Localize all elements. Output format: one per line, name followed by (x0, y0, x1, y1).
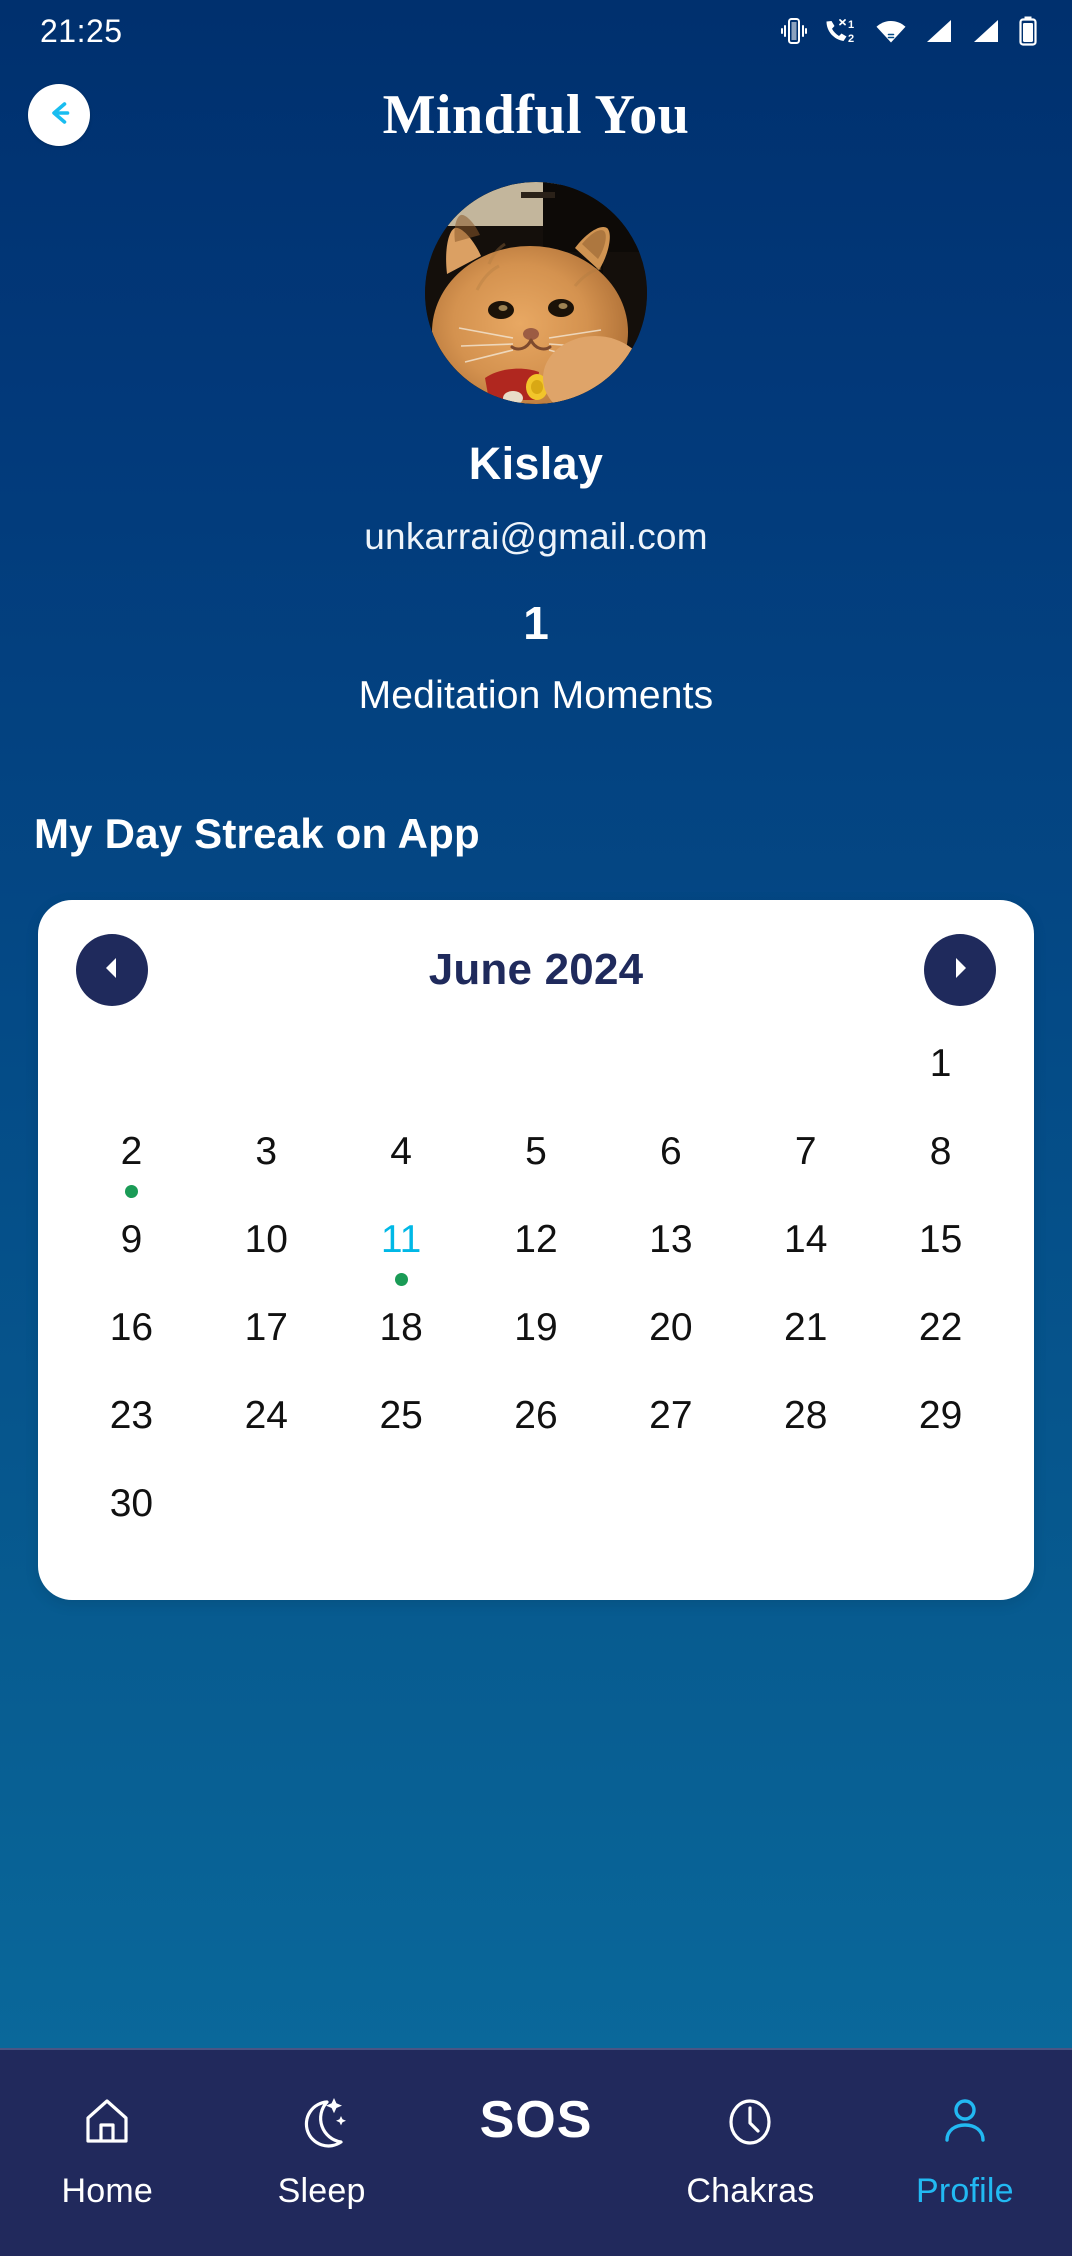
nav-label-chakras: Chakras (686, 2172, 814, 2211)
calendar-day-27[interactable]: 27 (603, 1388, 738, 1476)
calendar-day-21[interactable]: 21 (738, 1300, 873, 1388)
nav-label-home: Home (61, 2172, 153, 2211)
streak-dot (395, 1273, 408, 1286)
calendar-day-number: 30 (110, 1484, 153, 1525)
calendar-day-number: 20 (649, 1308, 692, 1349)
calendar-day-number: 5 (525, 1132, 547, 1173)
calendar-day-28[interactable]: 28 (738, 1388, 873, 1476)
calendar-day-number: 24 (245, 1396, 288, 1437)
calendar-day-18[interactable]: 18 (334, 1300, 469, 1388)
calendar-month-label: June 2024 (148, 945, 924, 995)
calendar-day-17[interactable]: 17 (199, 1300, 334, 1388)
missed-call-dual-sim-icon: 1 2 (824, 16, 858, 46)
calendar-next-button[interactable] (924, 934, 996, 1006)
chevron-right-icon (946, 954, 974, 987)
arrow-left-icon (39, 93, 79, 138)
calendar-day-24[interactable]: 24 (199, 1388, 334, 1476)
svg-text:1: 1 (848, 19, 854, 31)
calendar-day-22[interactable]: 22 (873, 1300, 1008, 1388)
calendar-day-number: 25 (379, 1396, 422, 1437)
calendar-day-number: 6 (660, 1132, 682, 1173)
calendar-day-number: 7 (795, 1132, 817, 1173)
calendar-day-number: 21 (784, 1308, 827, 1349)
sos-icon: SOS (480, 2090, 593, 2150)
user-name: Kislay (0, 438, 1072, 490)
calendar-day-20[interactable]: 20 (603, 1300, 738, 1388)
calendar-day-26[interactable]: 26 (469, 1388, 604, 1476)
calendar-day-number: 29 (919, 1396, 962, 1437)
signal-sim1-icon (924, 18, 954, 44)
calendar-day-16[interactable]: 16 (64, 1300, 199, 1388)
page-title: Mindful You (0, 83, 1072, 147)
nav-label-profile: Profile (916, 2172, 1014, 2211)
moon-stars-icon (294, 2090, 350, 2154)
battery-icon (1018, 16, 1038, 46)
calendar-day-number: 18 (379, 1308, 422, 1349)
calendar-day-number: 8 (930, 1132, 952, 1173)
calendar-day-number: 22 (919, 1308, 962, 1349)
clock-icon (722, 2090, 778, 2154)
streak-dot (125, 1185, 138, 1198)
calendar-day-7[interactable]: 7 (738, 1124, 873, 1212)
nav-item-sos[interactable]: SOS (429, 2090, 643, 2150)
calendar-day-19[interactable]: 19 (469, 1300, 604, 1388)
signal-sim2-icon (971, 18, 1001, 44)
streak-heading: My Day Streak on App (34, 810, 1072, 858)
calendar-day-14[interactable]: 14 (738, 1212, 873, 1300)
nav-label-sleep: Sleep (278, 2172, 366, 2211)
calendar-grid: 1234567891011121314151617181920212223242… (64, 1036, 1008, 1564)
wifi-icon (875, 18, 907, 44)
meditation-label: Meditation Moments (0, 674, 1072, 718)
calendar-day-6[interactable]: 6 (603, 1124, 738, 1212)
calendar-day-number: 13 (649, 1220, 692, 1261)
status-icons: 1 2 (781, 16, 1038, 46)
status-time: 21:25 (40, 13, 123, 50)
calendar-day-number: 10 (245, 1220, 288, 1261)
calendar-day-number: 12 (514, 1220, 557, 1261)
calendar-day-10[interactable]: 10 (199, 1212, 334, 1300)
calendar-day-11[interactable]: 11 (334, 1212, 469, 1300)
calendar-day-number: 11 (381, 1220, 422, 1261)
calendar-header: June 2024 (64, 934, 1008, 1006)
bottom-navigation: Home Sleep SOS Chakras Profile (0, 2048, 1072, 2256)
calendar-day-number: 9 (121, 1220, 143, 1261)
nav-item-home[interactable]: Home (0, 2090, 214, 2211)
calendar-day-number: 17 (245, 1308, 288, 1349)
svg-text:2: 2 (848, 33, 854, 45)
app-header: Mindful You (0, 62, 1072, 168)
avatar (425, 182, 647, 404)
meditation-count: 1 (0, 596, 1072, 650)
calendar-day-number: 26 (514, 1396, 557, 1437)
chevron-left-icon (98, 954, 126, 987)
home-icon (79, 2090, 135, 2154)
calendar-day-number: 3 (255, 1132, 277, 1173)
calendar-day-1[interactable]: 1 (873, 1036, 1008, 1124)
calendar-day-5[interactable]: 5 (469, 1124, 604, 1212)
nav-item-chakras[interactable]: Chakras (643, 2090, 857, 2211)
calendar-day-13[interactable]: 13 (603, 1212, 738, 1300)
calendar-day-15[interactable]: 15 (873, 1212, 1008, 1300)
calendar-day-30[interactable]: 30 (64, 1476, 199, 1564)
calendar-card: June 2024 123456789101112131415161718192… (38, 900, 1034, 1600)
calendar-day-number: 4 (390, 1132, 412, 1173)
calendar-day-2[interactable]: 2 (64, 1124, 199, 1212)
vibrate-icon (781, 16, 807, 46)
calendar-day-number: 2 (121, 1132, 143, 1173)
calendar-day-number: 1 (930, 1044, 952, 1085)
calendar-day-25[interactable]: 25 (334, 1388, 469, 1476)
calendar-day-number: 19 (514, 1308, 557, 1349)
person-icon (937, 2090, 993, 2154)
calendar-day-23[interactable]: 23 (64, 1388, 199, 1476)
profile-section: Kislay unkarrai@gmail.com 1 Meditation M… (0, 182, 1072, 718)
calendar-prev-button[interactable] (76, 934, 148, 1006)
calendar-day-number: 28 (784, 1396, 827, 1437)
calendar-day-number: 15 (919, 1220, 962, 1261)
nav-item-sleep[interactable]: Sleep (214, 2090, 428, 2211)
user-email: unkarrai@gmail.com (0, 516, 1072, 558)
status-bar: 21:25 1 2 (0, 0, 1072, 62)
calendar-day-number: 16 (110, 1308, 153, 1349)
calendar-day-8[interactable]: 8 (873, 1124, 1008, 1212)
calendar-day-9[interactable]: 9 (64, 1212, 199, 1300)
calendar-day-12[interactable]: 12 (469, 1212, 604, 1300)
calendar-day-number: 14 (784, 1220, 827, 1261)
calendar-day-29[interactable]: 29 (873, 1388, 1008, 1476)
nav-item-profile[interactable]: Profile (858, 2090, 1072, 2211)
calendar-day-4[interactable]: 4 (334, 1124, 469, 1212)
calendar-day-3[interactable]: 3 (199, 1124, 334, 1212)
cat-avatar-image (425, 182, 647, 404)
calendar-day-number: 27 (649, 1396, 692, 1437)
back-button[interactable] (28, 84, 90, 146)
calendar-day-number: 23 (110, 1396, 153, 1437)
